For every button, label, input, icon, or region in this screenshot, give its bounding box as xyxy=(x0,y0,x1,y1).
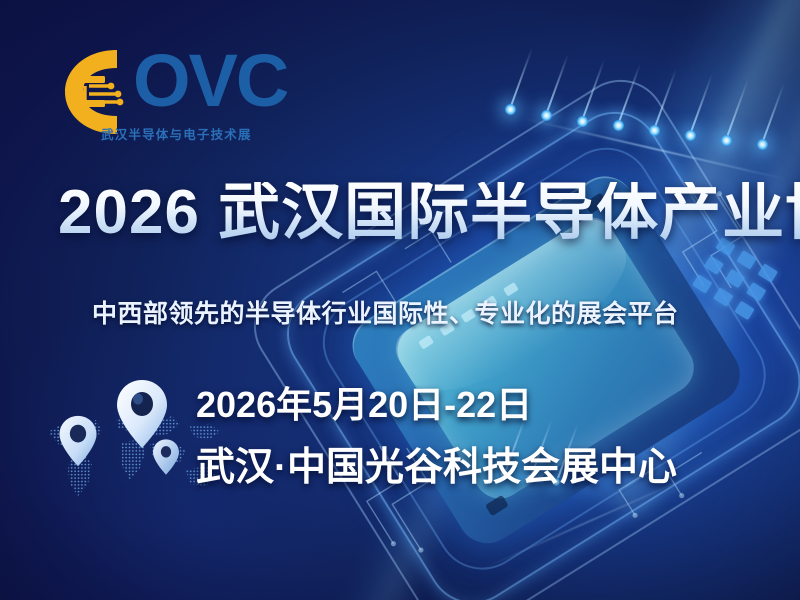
logo-subtitle: 武汉半导体与电子技术展 xyxy=(101,124,252,143)
event-venue: 武汉·中国光谷科技会展中心 xyxy=(196,436,677,492)
expo-banner: OVC 武汉半导体与电子技术展 2026 武汉国际半导体产业博览会 中西部领先的… xyxy=(0,0,800,600)
event-date: 2026年5月20日-22日 xyxy=(196,376,532,428)
logo[interactable]: OVC 武汉半导体与电子技术展 xyxy=(55,46,300,151)
logo-wordmark: OVC xyxy=(133,44,287,118)
location-pin-medium-icon xyxy=(58,414,98,468)
location-pin-small-icon xyxy=(152,438,180,476)
page-title: 2026 武汉国际半导体产业博览会 xyxy=(58,182,800,244)
page-subtitle: 中西部领先的半导体行业国际性、专业化的展会平台 xyxy=(92,294,679,330)
